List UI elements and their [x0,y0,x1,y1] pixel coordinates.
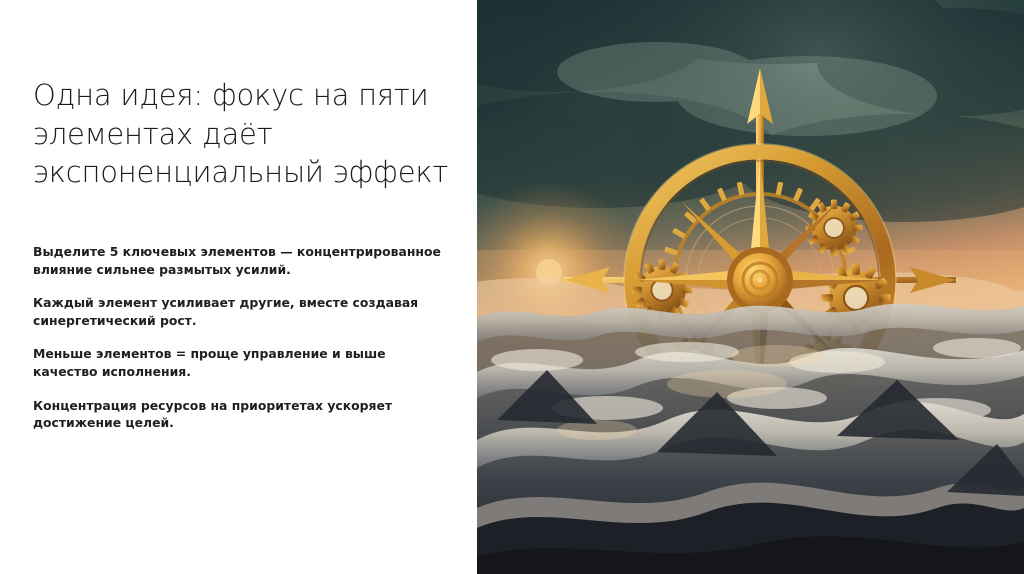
illustration-image [477,0,1024,574]
page-title: Одна идея: фокус на пяти элементах даёт … [33,76,453,192]
text-column: Одна идея: фокус на пяти элементах даёт … [0,0,477,574]
body-paragraph-2: Каждый элемент усиливает другие, вместе … [33,294,453,329]
compass-hub [727,247,793,313]
body-text-block: Выделите 5 ключевых элементов — концентр… [33,243,453,432]
stormy-sea [477,304,1024,574]
compass-illustration-svg [477,0,1024,574]
body-paragraph-4: Концентрация ресурсов на приоритетах уск… [33,397,453,432]
body-paragraph-3: Меньше элементов = проще управление и вы… [33,345,453,380]
body-paragraph-1: Выделите 5 ключевых элементов — концентр… [33,243,453,278]
slide: Одна идея: фокус на пяти элементах даёт … [0,0,1024,574]
